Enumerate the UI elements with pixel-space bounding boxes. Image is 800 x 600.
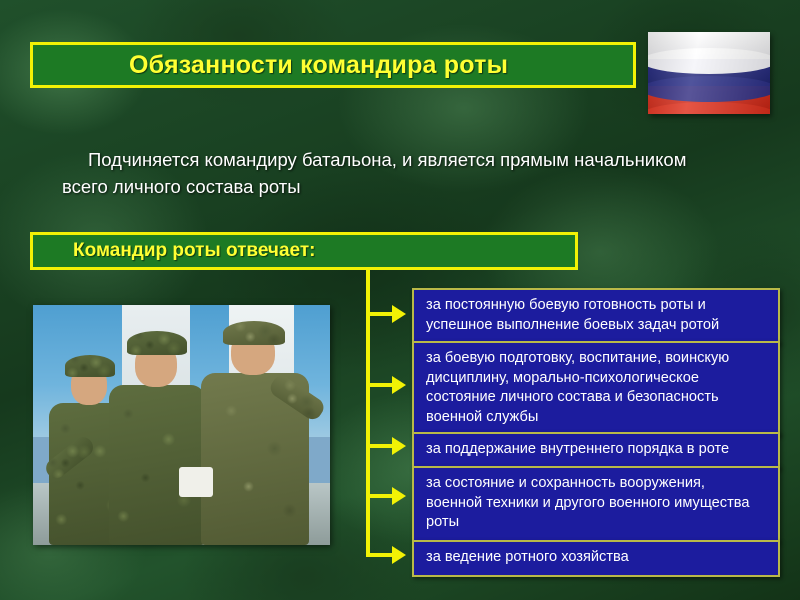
responsibility-line: за ведение ротного хозяйства	[426, 548, 768, 568]
photo-soldier-armband	[179, 467, 213, 497]
photo-soldier-left-cap	[65, 355, 115, 377]
responsibility-line: за постоянную боевую готовность роты и	[426, 296, 768, 316]
responsibility-line: состояние личного состава и безопасность	[426, 388, 768, 408]
responsibility-line: роты	[426, 513, 768, 533]
photo-soldier-center-body	[109, 385, 205, 545]
responsibility-line: за поддержание внутреннего порядка в рот…	[426, 440, 768, 460]
responsibility-line: дисциплину, морально-психологическое	[426, 369, 768, 389]
section-header-label: Командир роты отвечает:	[73, 240, 315, 262]
photo-soldier-right-cap	[223, 321, 285, 345]
slide-canvas: Обязанности командира роты Подчиняется к…	[0, 0, 800, 600]
slide-title-banner: Обязанности командира роты	[30, 42, 636, 88]
intro-line-2: всего личного состава роты	[62, 173, 762, 200]
intro-line-1: Подчиняется командиру батальона, и являе…	[62, 146, 762, 173]
responsibility-line: военной техники и другого военного имуще…	[426, 494, 768, 514]
responsibility-box-training-discipline[interactable]: за боевую подготовку, воспитание, воинск…	[412, 341, 780, 436]
connector-arrow-4-icon	[392, 487, 406, 505]
responsibility-line: военной службы	[426, 408, 768, 428]
connector-arrow-3-icon	[392, 437, 406, 455]
responsibility-box-readiness[interactable]: за постоянную боевую готовность роты и у…	[412, 288, 780, 344]
responsibility-line: успешное выполнение боевых задач ротой	[426, 316, 768, 336]
connector-arrow-5-icon	[392, 546, 406, 564]
connector-arrow-1-icon	[392, 305, 406, 323]
responsibility-box-internal-order[interactable]: за поддержание внутреннего порядка в рот…	[412, 432, 780, 469]
page-title: Обязанности командира роты	[129, 51, 508, 80]
responsibility-line: за состояние и сохранность вооружения,	[426, 474, 768, 494]
responsibility-box-armament-equipment[interactable]: за состояние и сохранность вооружения, в…	[412, 466, 780, 542]
photo-soldier-right	[201, 323, 309, 545]
photo-soldier-center	[109, 331, 205, 545]
connector-arrow-2-icon	[392, 376, 406, 394]
responsibility-box-company-economy[interactable]: за ведение ротного хозяйства	[412, 540, 780, 577]
section-header-banner: Командир роты отвечает:	[30, 232, 578, 270]
soldiers-saluting-photo	[33, 305, 330, 545]
intro-paragraph: Подчиняется командиру батальона, и являе…	[62, 146, 762, 200]
flag-shading	[648, 32, 770, 114]
responsibility-line: за боевую подготовку, воспитание, воинск…	[426, 349, 768, 369]
photo-soldier-center-cap	[127, 331, 187, 355]
russian-flag-icon	[648, 32, 770, 114]
